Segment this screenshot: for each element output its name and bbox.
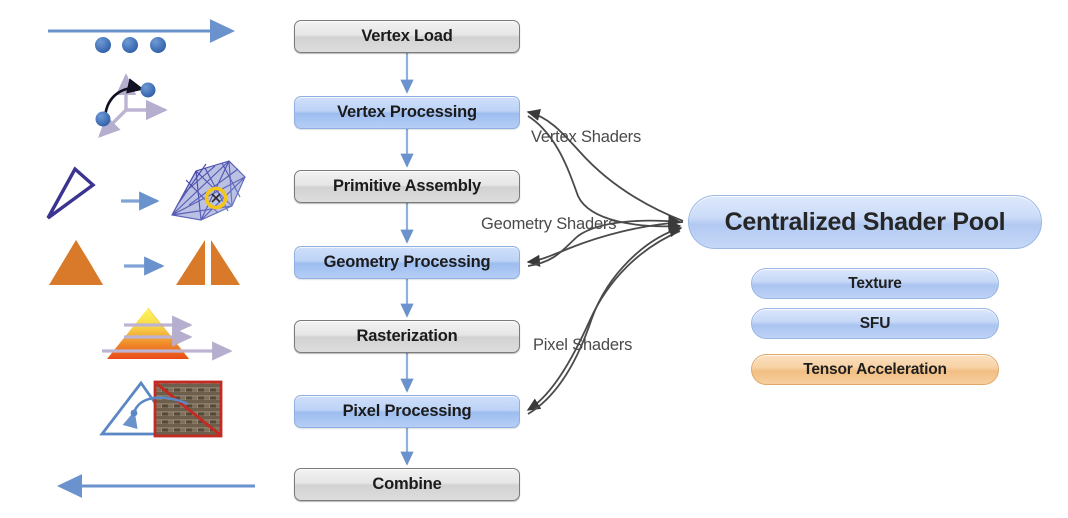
link-pixel-shaders-out	[528, 231, 680, 410]
pool-title-label: Centralized Shader Pool	[725, 208, 1006, 237]
link-label-geometry-shaders: Geometry Shaders	[481, 215, 616, 234]
stage-box-geometry-processing[interactable]: Geometry Processing	[294, 246, 520, 279]
stage-box-combine[interactable]: Combine	[294, 468, 520, 501]
illustration-rasterization	[102, 308, 230, 359]
illustration-vertex-stream	[48, 31, 232, 53]
stage-label: Vertex Load	[361, 27, 452, 46]
link-label-pixel-shaders: Pixel Shaders	[533, 336, 632, 355]
unit-label: Tensor Acceleration	[803, 361, 947, 379]
centralized-shader-pool-header[interactable]: Centralized Shader Pool	[688, 195, 1042, 249]
shader-unit-texture[interactable]: Texture	[751, 268, 999, 299]
stage-box-vertex-load[interactable]: Vertex Load	[294, 20, 520, 53]
stage-box-pixel-processing[interactable]: Pixel Processing	[294, 395, 520, 428]
shader-unit-tensor-acceleration[interactable]: Tensor Acceleration	[751, 354, 999, 385]
unit-label: SFU	[860, 315, 890, 333]
stage-label: Geometry Processing	[324, 253, 491, 272]
link-label-vertex-shaders: Vertex Shaders	[531, 128, 641, 147]
stage-box-vertex-processing[interactable]: Vertex Processing	[294, 96, 520, 129]
link-pixel-shaders-in	[528, 228, 681, 414]
stage-label: Combine	[372, 475, 441, 494]
illustration-vertex-transform	[96, 76, 166, 136]
illustration-triangle-split	[49, 240, 240, 285]
unit-label: Texture	[848, 275, 901, 293]
stage-label: Primitive Assembly	[333, 177, 481, 196]
illustration-texture-mapping	[102, 382, 221, 436]
shader-unit-sfu[interactable]: SFU	[751, 308, 999, 339]
stage-box-rasterization[interactable]: Rasterization	[294, 320, 520, 353]
stage-label: Pixel Processing	[343, 402, 472, 421]
stage-label: Rasterization	[356, 327, 457, 346]
diagram-canvas: Vertex Load Vertex Processing Primitive …	[0, 0, 1068, 518]
stage-label: Vertex Processing	[337, 103, 477, 122]
illustration-tessellation	[48, 161, 245, 220]
diagram-artwork	[0, 0, 1068, 518]
stage-box-primitive-assembly[interactable]: Primitive Assembly	[294, 170, 520, 203]
